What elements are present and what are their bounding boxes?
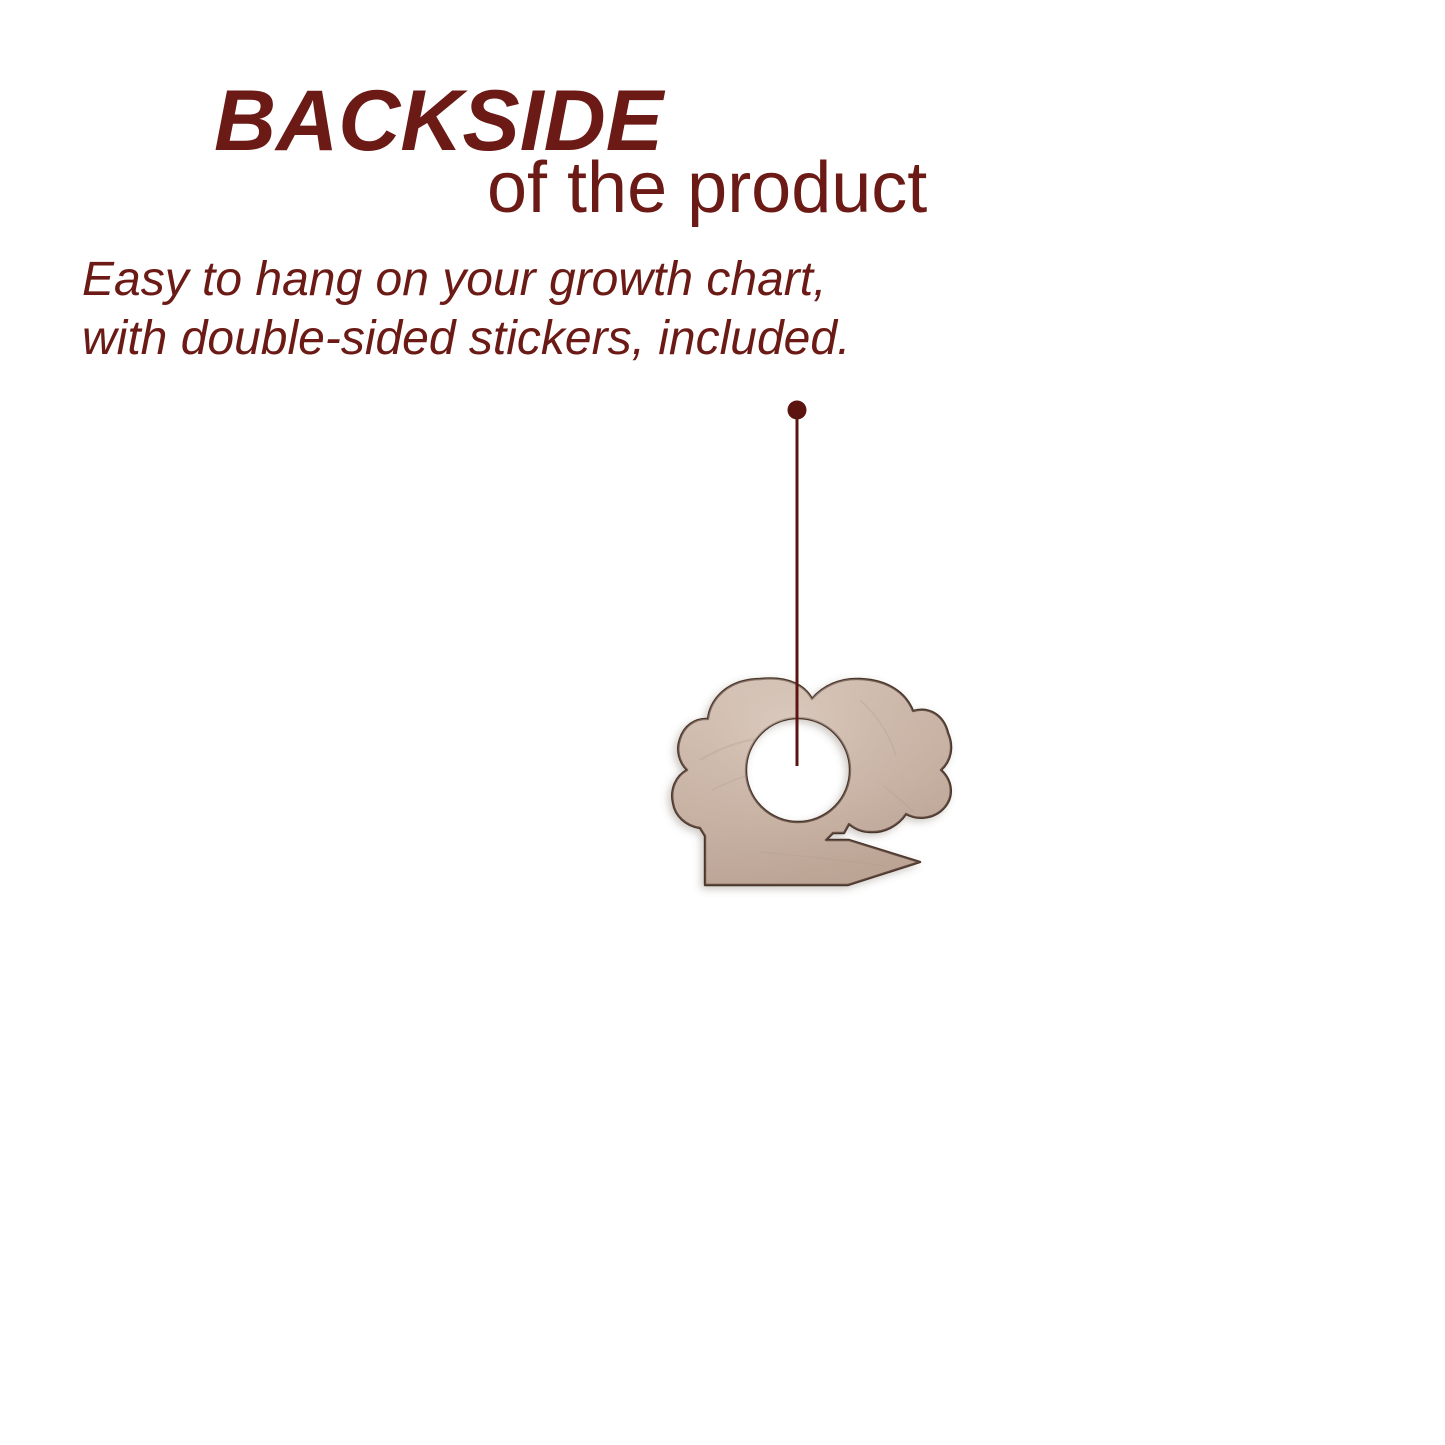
caption-line-2: with double-sided stickers, included. — [82, 309, 850, 368]
caption-line-1: Easy to hang on your growth chart, — [82, 250, 850, 309]
wood-grain — [700, 700, 914, 866]
caption: Easy to hang on your growth chart, with … — [82, 250, 850, 368]
product-backside-illustration: BACKSIDE of the product Easy to hang on … — [0, 0, 1445, 1445]
page-subtitle: of the product — [487, 152, 927, 224]
wooden-tag-shape — [672, 678, 951, 885]
pin-head-icon — [788, 401, 807, 420]
hanging-pin — [788, 401, 807, 767]
pin-shaft — [796, 414, 799, 766]
